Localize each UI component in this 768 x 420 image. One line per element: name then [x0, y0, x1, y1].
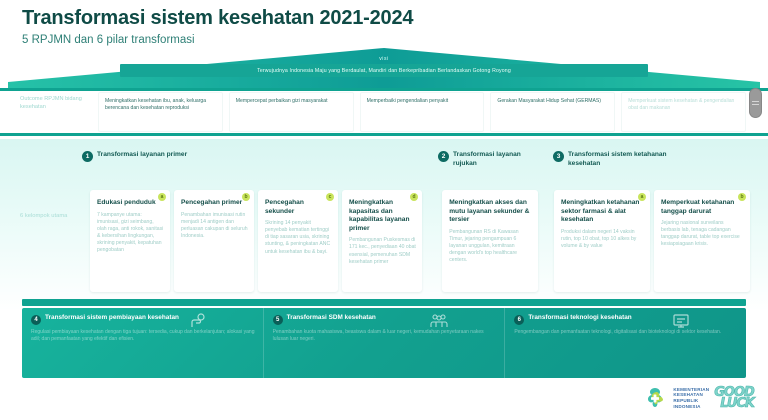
ministry-name: KEMENTERIAN KESEHATAN REPUBLIK INDONESIA [673, 387, 709, 409]
kemenkes-logo-icon [642, 385, 668, 411]
card-body: Skrining 14 penyakit penyebab kematian t… [265, 220, 332, 255]
outcome-cell: Mempercepat perbaikan gizi masyarakat [229, 92, 354, 132]
scrollbar-thumb[interactable] [749, 88, 762, 118]
card-badge: b [242, 193, 250, 201]
goodluck-line-2: LUCK [720, 398, 754, 409]
outcome-cell: Memperbaiki pengendalian penyakit [360, 92, 485, 132]
outcome-cell: Gerakan Masyarakat Hidup Sehat (GERMAS) [490, 92, 615, 132]
foot-pillar-body: Regulasi pembiayaan kesehatan dengan tig… [31, 329, 255, 343]
card-badge: a [638, 193, 646, 201]
visi-band: Terwujudnya Indonesia Maju yang Berdaula… [120, 64, 648, 77]
card-title: Pencegahan primer [181, 199, 248, 208]
visi-text: Terwujudnya Indonesia Maju yang Berdaula… [257, 68, 511, 74]
card-title: Memperkuat ketahanan tanggap darurat [661, 199, 744, 216]
card-row: a Edukasi penduduk 7 kampanye utama: imu… [90, 190, 750, 292]
ministry-line: INDONESIA [673, 404, 709, 410]
foot-pillar-5[interactable]: 5 Transformasi SDM kesehatan Penambahan … [264, 308, 506, 378]
slide-canvas: Transformasi sistem kesehatan 2021-2024 … [0, 0, 768, 420]
outcome-cell: Meningkatkan kesehatan ibu, anak, keluar… [98, 92, 223, 132]
card-title: Pencegahan sekunder [265, 199, 332, 216]
card-body: Penambahan imunisasi rutin menjadi 14 an… [181, 212, 248, 240]
page-subtitle: 5 RPJMN dan 6 pilar transformasi [22, 33, 413, 47]
card[interactable]: c Pencegahan sekunder Skrining 14 penyak… [258, 190, 338, 292]
foot-pillar-body: Penambahan kuota mahasiswa, beasiswa dal… [273, 329, 497, 343]
foot-pillar-header: 6 Transformasi teknologi kesehatan [514, 314, 738, 325]
pillar-number: 4 [31, 315, 41, 325]
card-badge: d [410, 193, 418, 201]
people-group-icon [430, 313, 448, 329]
card[interactable]: b Pencegahan primer Penambahan imunisasi… [174, 190, 254, 292]
foot-pillar-4[interactable]: 4 Transformasi sistem pembiayaan kesehat… [22, 308, 264, 378]
pillar-header-3: 3 Transformasi sistem ketahanan kesehata… [553, 150, 688, 168]
card-title: Meningkatkan akses dan mutu layanan seku… [449, 199, 532, 225]
thumb-grip-line [752, 101, 759, 102]
pillar-number: 6 [514, 315, 524, 325]
card-body: Pembangunan RS di Kawasan Timur, jejarin… [449, 229, 532, 264]
foot-pillars: 4 Transformasi sistem pembiayaan kesehat… [22, 308, 746, 378]
foot-pillar-body: Pengembangan dan pemanfaatan teknologi, … [514, 329, 738, 336]
pillar-title: Transformasi SDM kesehatan [287, 314, 376, 322]
pillar-number: 3 [553, 151, 564, 162]
header: Transformasi sistem kesehatan 2021-2024 … [22, 6, 413, 47]
good-luck-graffiti: GOOD LUCK [714, 387, 754, 409]
page-title: Transformasi sistem kesehatan 2021-2024 [22, 6, 413, 30]
pillar-title: Transformasi layanan rujukan [453, 150, 538, 168]
card-badge: c [326, 193, 334, 201]
card-title: Meningkatkan ketahanan sektor farmasi & … [561, 199, 644, 225]
pillar-title: Transformasi teknologi kesehatan [528, 314, 631, 322]
pillar-title: Transformasi sistem ketahanan kesehatan [568, 150, 688, 168]
foot-pillar-6[interactable]: 6 Transformasi teknologi kesehatan Penge… [505, 308, 746, 378]
thumb-grip-line [752, 104, 759, 105]
visi-label: visi [0, 56, 768, 62]
foot-pillar-header: 4 Transformasi sistem pembiayaan kesehat… [31, 314, 255, 325]
hand-coin-icon [189, 313, 207, 329]
card[interactable]: d Meningkatkan kapasitas dan kapabilitas… [342, 190, 422, 292]
card[interactable]: b Memperkuat ketahanan tanggap darurat J… [654, 190, 750, 292]
pillar-header-1: 1 Transformasi layanan primer [82, 150, 312, 162]
card-body: Produksi dalam negeri 14 vaksin rutin, t… [561, 229, 644, 250]
card-group-pillar-2: Meningkatkan akses dan mutu layanan seku… [442, 190, 543, 292]
pillar-number: 2 [438, 151, 449, 162]
base-plinth [22, 299, 746, 306]
card-group-pillar-1: a Edukasi penduduk 7 kampanye utama: imu… [90, 190, 431, 292]
card-badge: a [158, 193, 166, 201]
foot-pillar-header: 5 Transformasi SDM kesehatan [273, 314, 497, 325]
pillar-number: 5 [273, 315, 283, 325]
pillar-number: 1 [82, 151, 93, 162]
main-side-label: 6 kelompok utama [20, 212, 90, 220]
card-body: Pembangunan Puskesmas di 171 kec., penye… [349, 237, 416, 265]
monitor-icon [672, 313, 690, 329]
outcome-cells: Meningkatkan kesehatan ibu, anak, keluar… [98, 92, 746, 132]
card-badge: b [738, 193, 746, 201]
pillar-title: Transformasi layanan primer [97, 150, 187, 159]
card[interactable]: a Edukasi penduduk 7 kampanye utama: imu… [90, 190, 170, 292]
pillar-title: Transformasi sistem pembiayaan kesehatan [45, 314, 179, 322]
card-group-pillar-3: a Meningkatkan ketahanan sektor farmasi … [554, 190, 750, 292]
card-title: Edukasi penduduk [97, 199, 164, 208]
outcome-side-label: Outcome RPJMN bidang kesehatan [20, 96, 92, 111]
footer-logo: KEMENTERIAN KESEHATAN REPUBLIK INDONESIA… [642, 382, 754, 414]
card[interactable]: Meningkatkan akses dan mutu layanan seku… [442, 190, 538, 292]
outcome-cell: Memperkuat sistem kesehatan & pengendali… [621, 92, 746, 132]
card-body: 7 kampanye utama: imunisasi, gizi seimba… [97, 212, 164, 255]
pillar-header-2: 2 Transformasi layanan rujukan [438, 150, 538, 168]
card-title: Meningkatkan kapasitas dan kapabilitas l… [349, 199, 416, 233]
card[interactable]: a Meningkatkan ketahanan sektor farmasi … [554, 190, 650, 292]
card-body: Jejaring nasional surveilans berbasis la… [661, 220, 744, 248]
